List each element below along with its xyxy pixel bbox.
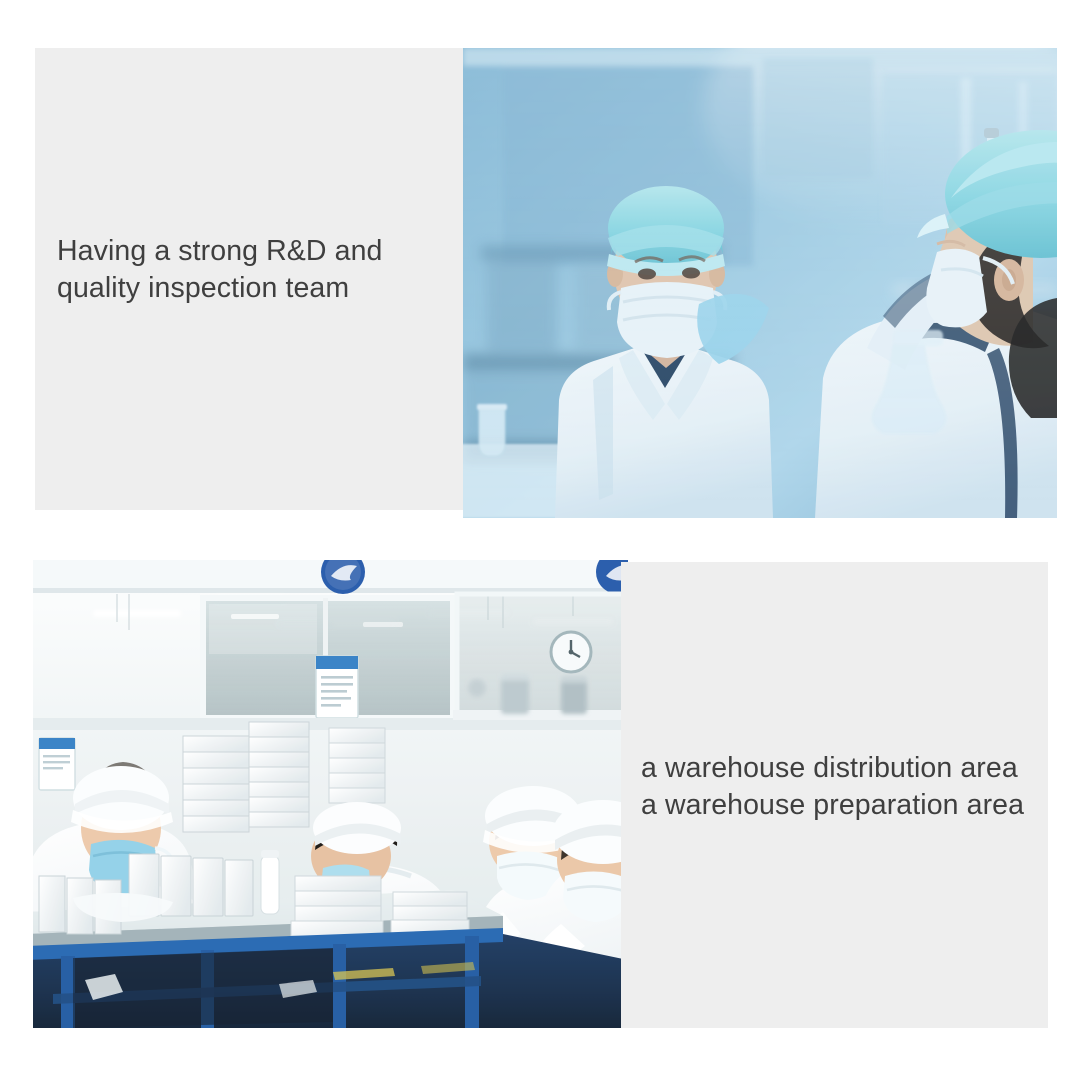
warehouse-packing-photo <box>33 560 628 1028</box>
lab-quality-inspection-photo <box>463 48 1057 518</box>
section-rd-quality-inspection: Having a strong R&D and quality inspecti… <box>35 48 1057 518</box>
slide-canvas: Having a strong R&D and quality inspecti… <box>0 0 1080 1080</box>
caption-rd-quality-inspection: Having a strong R&D and quality inspecti… <box>57 233 457 307</box>
caption-warehouse-areas: a warehouse distribution area a warehous… <box>641 750 1061 824</box>
warehouse-scene <box>33 560 628 1028</box>
lab-scene <box>463 48 1057 518</box>
warehouse-scene-illustration <box>33 560 628 1028</box>
lab-scene-illustration <box>463 48 1057 518</box>
section-warehouse-areas: a warehouse distribution area a warehous… <box>33 560 1048 1028</box>
